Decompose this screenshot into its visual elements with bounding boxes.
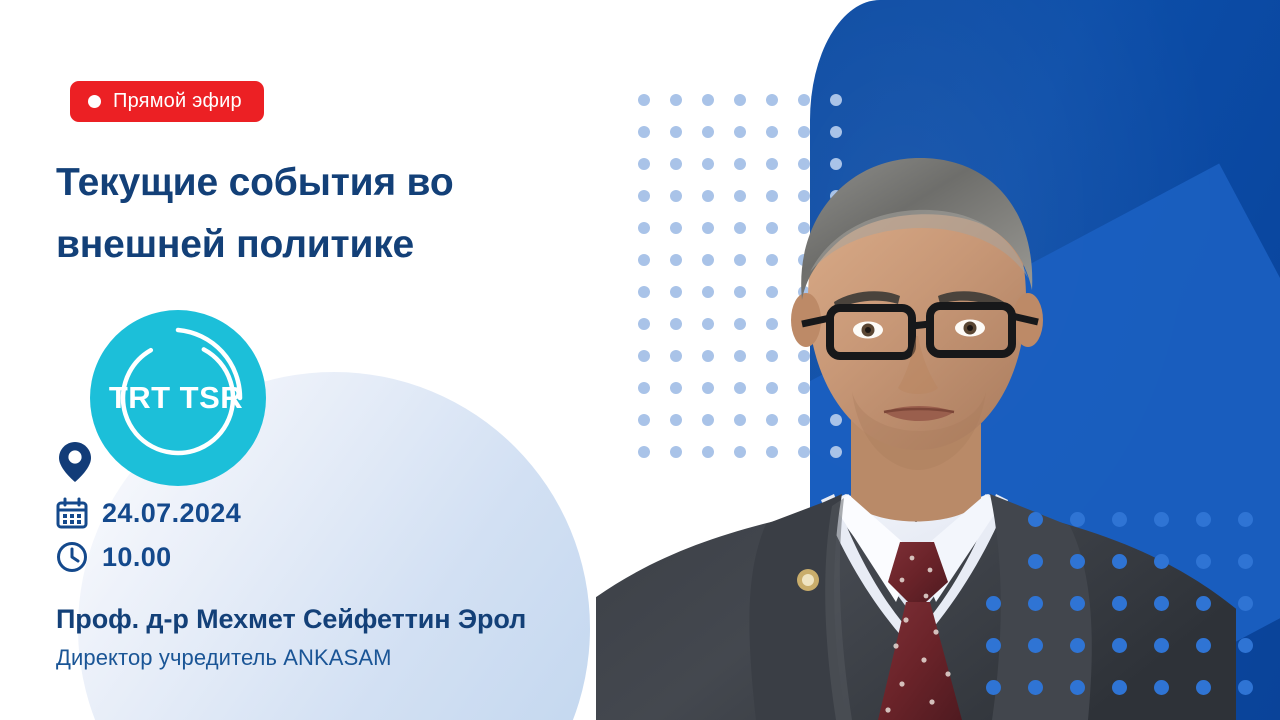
grid-dot (798, 126, 810, 138)
speaker-role: Директор учредитель ANKASAM (56, 645, 392, 671)
grid-dot (1070, 680, 1085, 695)
grid-dot (1028, 512, 1043, 527)
title-line-1: Текущие события во (56, 152, 526, 214)
event-date-value: 24.07.2024 (102, 498, 241, 529)
title-line-2: внешней политике (56, 214, 526, 276)
live-dot-icon (88, 95, 101, 108)
trt-tsr-logo: TRT TSR (90, 310, 266, 486)
grid-dot (1028, 596, 1043, 611)
grid-dot (1028, 638, 1043, 653)
grid-dot (1112, 554, 1127, 569)
grid-dot (638, 126, 650, 138)
grid-dot (1238, 512, 1253, 527)
page-title: Текущие события во внешней политике (56, 152, 526, 275)
grid-dot (986, 638, 1001, 653)
grid-dot (1070, 512, 1085, 527)
grid-dot (1196, 512, 1211, 527)
grid-dot (670, 94, 682, 106)
live-badge: Прямой эфир (70, 81, 264, 122)
grid-dot (1154, 596, 1169, 611)
grid-dot (1196, 680, 1211, 695)
grid-dot (1070, 554, 1085, 569)
grid-dot (670, 126, 682, 138)
grid-dot (1112, 638, 1127, 653)
grid-dot (1070, 596, 1085, 611)
live-badge-label: Прямой эфир (113, 91, 242, 111)
grid-dot (986, 680, 1001, 695)
grid-dot (1196, 596, 1211, 611)
lapel-pin-center (802, 574, 814, 586)
calendar-icon (56, 497, 88, 529)
grid-dot (830, 126, 842, 138)
grid-dot (986, 596, 1001, 611)
grid-dot (1028, 554, 1043, 569)
grid-dot (1196, 638, 1211, 653)
event-poster: Прямой эфир Текущие события во внешней п… (0, 0, 1280, 720)
location-pin-glyph (58, 440, 92, 484)
grid-dot (1112, 512, 1127, 527)
grid-dot (1238, 680, 1253, 695)
pupil-left (865, 327, 871, 333)
clock-icon (56, 541, 88, 573)
grid-dot (1070, 638, 1085, 653)
grid-dot (638, 94, 650, 106)
grid-dot (1238, 638, 1253, 653)
event-time-value: 10.00 (102, 542, 172, 573)
grid-dot (798, 94, 810, 106)
speaker-name: Проф. д-р Мехмет Сейфеттин Эрол (56, 604, 526, 635)
grid-dot (1238, 554, 1253, 569)
pupil-right (967, 325, 973, 331)
grid-dot (734, 126, 746, 138)
logo-text: TRT TSR (90, 310, 266, 486)
grid-dot (830, 94, 842, 106)
grid-dot (1112, 596, 1127, 611)
grid-dot (702, 94, 714, 106)
grid-dot (1238, 596, 1253, 611)
grid-dot (702, 126, 714, 138)
grid-dot (1196, 554, 1211, 569)
event-time-row: 10.00 (56, 541, 172, 573)
grid-dot (1154, 512, 1169, 527)
dot-grid-right (986, 512, 1280, 720)
grid-dot (734, 94, 746, 106)
grid-dot (766, 126, 778, 138)
grid-dot (766, 94, 778, 106)
grid-dot (1154, 554, 1169, 569)
grid-dot (1112, 680, 1127, 695)
location-pin-icon (58, 440, 92, 484)
event-date-row: 24.07.2024 (56, 497, 241, 529)
grid-dot (1154, 680, 1169, 695)
grid-dot (1028, 680, 1043, 695)
grid-dot (1154, 638, 1169, 653)
